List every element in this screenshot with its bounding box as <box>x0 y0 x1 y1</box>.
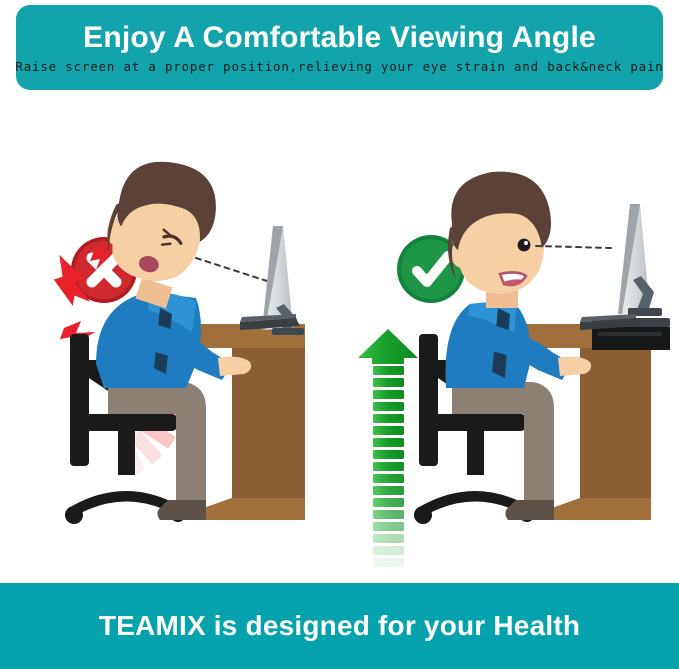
sight-line-left <box>196 258 270 282</box>
page-title: Enjoy A Comfortable Viewing Angle <box>83 21 596 55</box>
lift-arrow-icon <box>358 329 418 567</box>
panel-correct <box>358 172 670 567</box>
monitor-right <box>618 204 662 316</box>
illustration-area <box>0 96 679 583</box>
infographic-page: Enjoy A Comfortable Viewing Angle Raise … <box>0 0 679 669</box>
header-banner: Enjoy A Comfortable Viewing Angle Raise … <box>16 5 663 90</box>
page-subtitle: Raise screen at a proper position,reliev… <box>15 59 663 75</box>
footer-banner: TEAMIX is designed for your Health <box>0 583 679 669</box>
sight-line-right <box>536 246 612 248</box>
footer-title: TEAMIX is designed for your Health <box>99 610 580 642</box>
panel-incorrect <box>51 151 305 524</box>
